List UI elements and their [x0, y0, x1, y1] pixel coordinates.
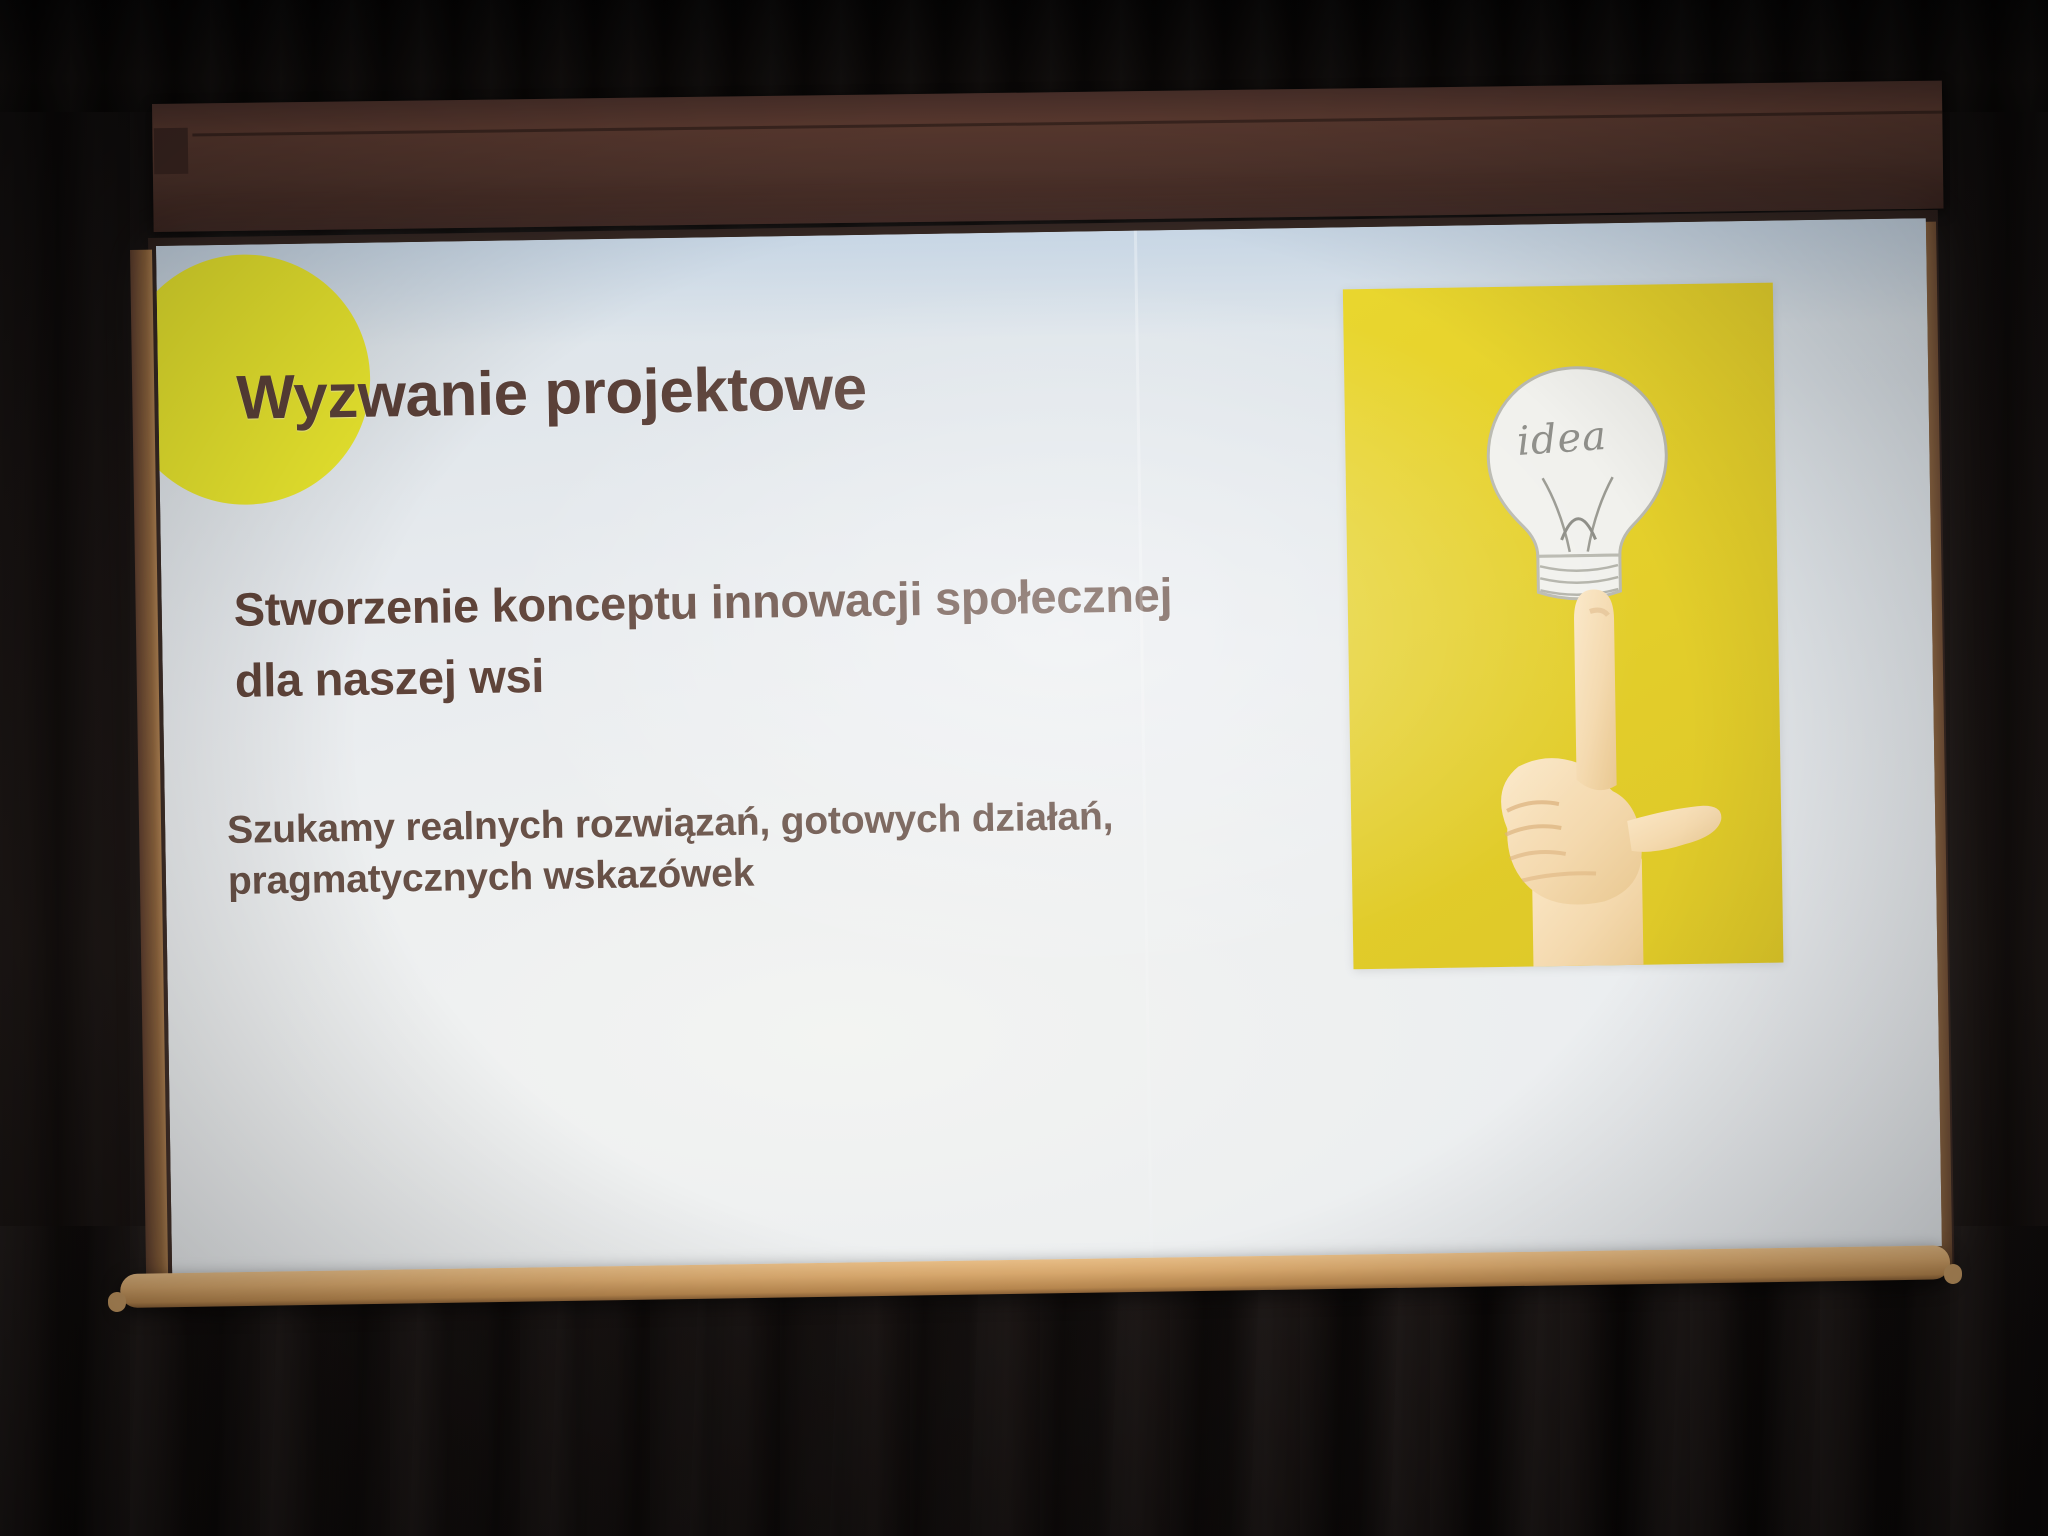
slide-title: Wyzwanie projektowe [236, 353, 867, 434]
pointing-hand [1431, 557, 1738, 969]
presentation-slide: Wyzwanie projektowe Stworzenie konceptu … [156, 218, 1942, 1274]
idea-lightbulb-hand-photo: idea [1343, 283, 1784, 970]
bottom-bar-cap-right [1944, 1264, 1962, 1284]
slide-lead-text: Stworzenie konceptu innowacji społecznej… [233, 559, 1235, 716]
slide-lead-line-2: dla naszej wsi [234, 630, 1235, 716]
bottom-bar-cap-left [108, 1292, 126, 1312]
projected-slide-area: Wyzwanie projektowe Stworzenie konceptu … [156, 218, 1942, 1274]
slide-sub-text: Szukamy realnych rozwiązań, gotowych dzi… [227, 789, 1238, 908]
screen-mount-bracket [154, 128, 189, 174]
auditorium-scene: Wyzwanie projektowe Stworzenie konceptu … [0, 0, 2048, 1536]
projection-screen-housing [152, 81, 1944, 232]
